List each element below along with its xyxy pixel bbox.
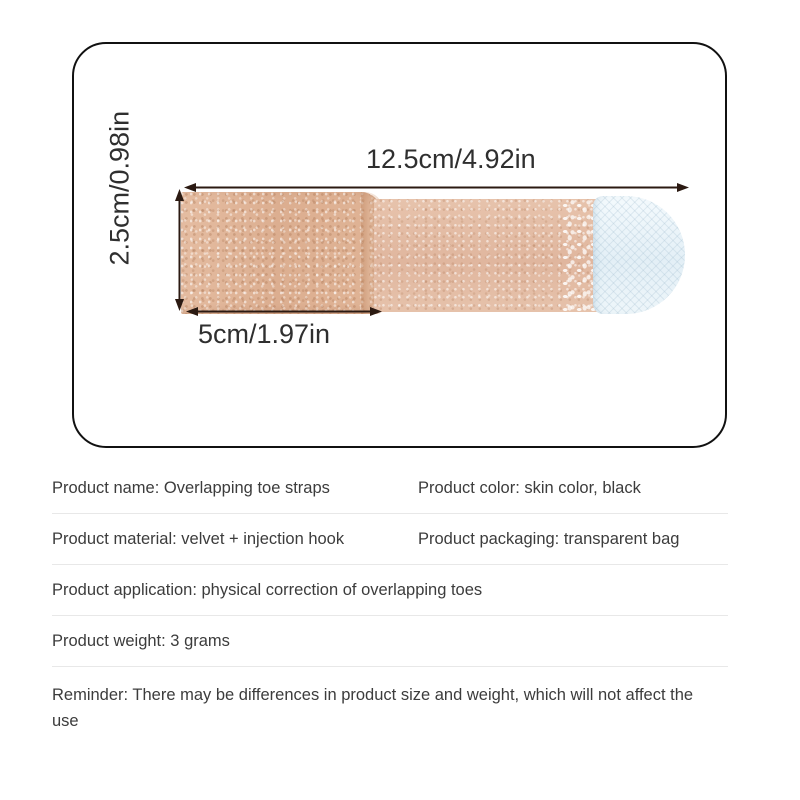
length-dimension-label: 12.5cm/4.92in <box>366 144 536 175</box>
spec-text-product-color: Product color: skin color, black <box>418 479 641 497</box>
product-illustration: 12.5cm/4.92in 5cm/1.97in 2.5cm/0.98in <box>74 44 729 450</box>
spec-text-product-name: Product name: Overlapping toe straps <box>52 479 330 497</box>
spec-text-product-material: Product material: velvet + injection hoo… <box>52 530 344 548</box>
spec-cell-product-material: Product material: velvet + injection hoo… <box>52 527 418 552</box>
spec-text-reminder: Reminder: There may be differences in pr… <box>52 683 724 734</box>
product-specification-list: Product name: Overlapping toe straps Pro… <box>52 463 728 739</box>
spec-text-product-application: Product application: physical correction… <box>52 578 482 603</box>
spec-row-material-packaging: Product material: velvet + injection hoo… <box>52 514 728 565</box>
pad-width-dimension-label: 5cm/1.97in <box>198 319 330 350</box>
height-dimension-arrow <box>174 189 185 311</box>
spec-cell-product-color: Product color: skin color, black <box>418 476 728 501</box>
spec-cell-product-name: Product name: Overlapping toe straps <box>52 476 418 501</box>
spec-row-weight: Product weight: 3 grams <box>52 616 728 667</box>
length-dimension-arrow <box>184 182 689 193</box>
injection-hook-tip-region <box>593 196 685 314</box>
product-image-card: 12.5cm/4.92in 5cm/1.97in 2.5cm/0.98in <box>72 42 727 448</box>
pad-width-dimension-arrow <box>186 306 382 317</box>
height-dimension-label: 2.5cm/0.98in <box>105 134 136 266</box>
spec-text-product-packaging: Product packaging: transparent bag <box>418 530 679 548</box>
velvet-pad-region <box>181 192 381 314</box>
spec-text-product-weight: Product weight: 3 grams <box>52 629 230 654</box>
spec-row-application: Product application: physical correction… <box>52 565 728 616</box>
spec-row-reminder: Reminder: There may be differences in pr… <box>52 667 728 739</box>
spec-cell-product-packaging: Product packaging: transparent bag <box>418 527 728 552</box>
spec-row-name-color: Product name: Overlapping toe straps Pro… <box>52 463 728 514</box>
